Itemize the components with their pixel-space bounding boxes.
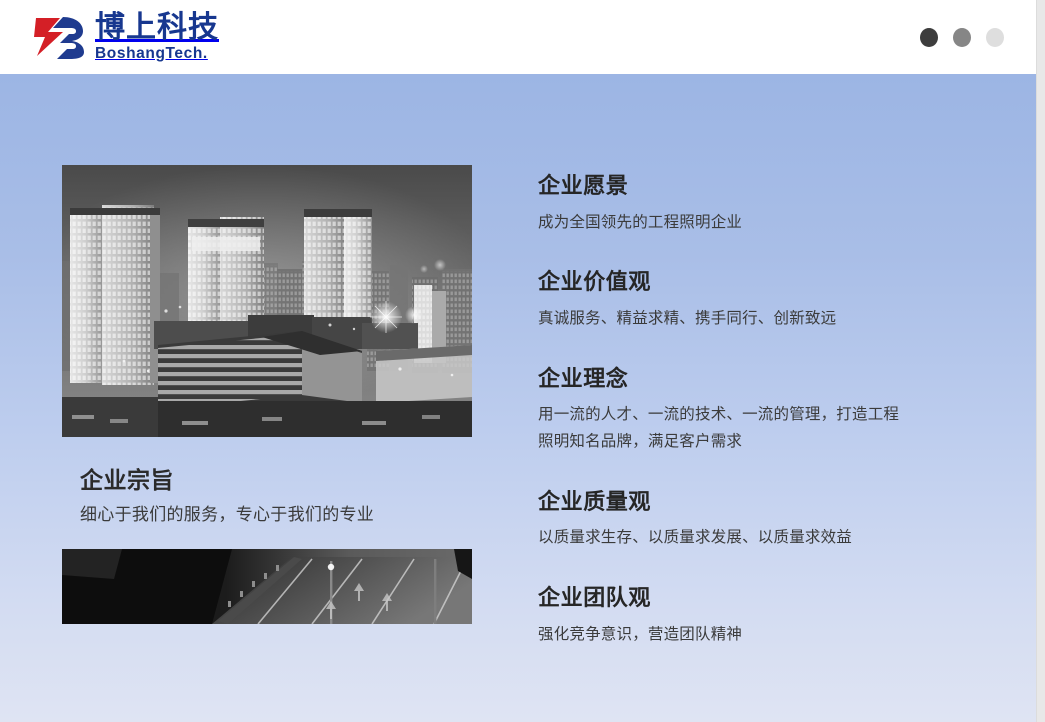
brand-logo[interactable]: 博上科技 BoshangTech. — [33, 12, 219, 61]
main-content: 企业宗旨 细心于我们的服务，专心于我们的专业 — [0, 74, 1036, 722]
purpose-block: 企业宗旨 细心于我们的服务，专心于我们的专业 — [62, 465, 480, 530]
purpose-title: 企业宗旨 — [80, 465, 480, 498]
dot-third-icon[interactable] — [986, 28, 1004, 47]
culture-item-title: 企业质量观 — [538, 488, 996, 518]
hero-cityscape-photo — [62, 165, 472, 437]
culture-item-quality: 企业质量观 以质量求生存、以质量求发展、以质量求效益 — [538, 488, 996, 551]
page-root: 博上科技 BoshangTech. — [0, 0, 1045, 722]
culture-item-title: 企业团队观 — [538, 584, 996, 614]
culture-item-desc: 成为全国领先的工程照明企业 — [538, 209, 913, 236]
brand-text: 博上科技 BoshangTech. — [95, 12, 219, 61]
header-dot-indicators — [920, 28, 1004, 47]
purpose-desc: 细心于我们的服务，专心于我们的专业 — [80, 502, 480, 529]
culture-item-philosophy: 企业理念 用一流的人才、一流的技术、一流的管理，打造工程照明知名品牌，满足客户需… — [538, 365, 996, 455]
culture-item-values: 企业价值观 真诚服务、精益求精、携手同行、创新致远 — [538, 268, 996, 331]
culture-item-desc: 强化竞争意识，营造团队精神 — [538, 621, 913, 648]
dot-second-icon[interactable] — [953, 28, 971, 47]
culture-item-desc: 真诚服务、精益求精、携手同行、创新致远 — [538, 305, 913, 332]
culture-grid: 企业宗旨 细心于我们的服务，专心于我们的专业 — [0, 74, 1036, 647]
road-photo-strip — [62, 549, 472, 624]
brand-mark-icon — [33, 13, 87, 61]
culture-item-title: 企业理念 — [538, 365, 996, 395]
culture-item-title: 企业价值观 — [538, 268, 996, 298]
culture-item-title: 企业愿景 — [538, 172, 996, 202]
site-header: 博上科技 BoshangTech. — [0, 0, 1036, 74]
dot-active-icon[interactable] — [920, 28, 938, 47]
brand-name-en: BoshangTech. — [95, 46, 219, 62]
brand-name-cn: 博上科技 — [95, 12, 219, 44]
right-column: 企业愿景 成为全国领先的工程照明企业 企业价值观 真诚服务、精益求精、携手同行、… — [480, 165, 1036, 647]
vertical-scrollbar[interactable] — [1036, 0, 1045, 722]
culture-item-team: 企业团队观 强化竞争意识，营造团队精神 — [538, 584, 996, 647]
culture-item-vision: 企业愿景 成为全国领先的工程照明企业 — [538, 172, 996, 235]
culture-item-desc: 以质量求生存、以质量求发展、以质量求效益 — [538, 524, 913, 551]
culture-item-desc: 用一流的人才、一流的技术、一流的管理，打造工程照明知名品牌，满足客户需求 — [538, 401, 913, 454]
left-column: 企业宗旨 细心于我们的服务，专心于我们的专业 — [0, 165, 480, 624]
